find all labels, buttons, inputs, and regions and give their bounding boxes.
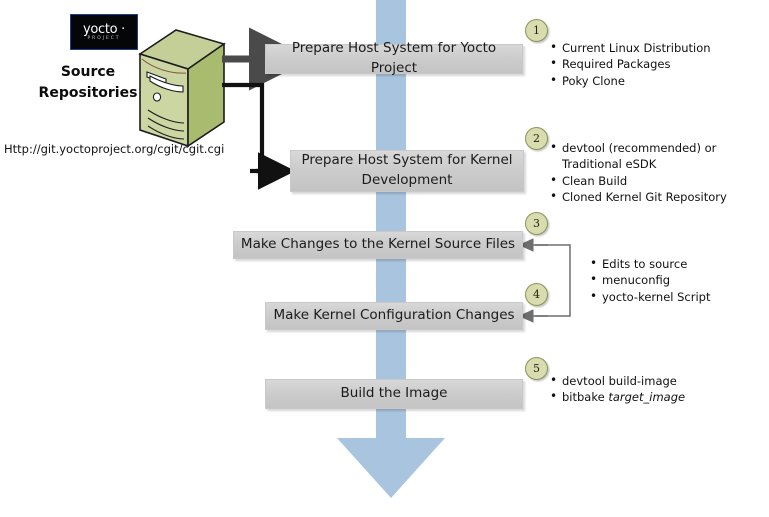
note-item: Current Linux Distribution — [560, 40, 763, 56]
source-repositories-label: Source Repositories — [26, 62, 150, 104]
step-notes-2: devtool (recommended) or Traditional eSD… — [548, 140, 768, 205]
shared-notes-steps-3-4: Edits to source menuconfig yocto-kernel … — [588, 256, 763, 305]
server-tower-icon — [136, 26, 228, 150]
note-item: Cloned Kernel Git Repository — [560, 189, 768, 205]
note-item: devtool (recommended) or Traditional eSD… — [560, 140, 768, 173]
note-command-prefix: bitbake — [562, 390, 608, 404]
step-box-3[interactable]: Make Changes to the Kernel Source Files — [233, 231, 523, 259]
note-item: Edits to source — [600, 256, 763, 272]
step-box-2[interactable]: Prepare Host System for Kernel Developme… — [290, 150, 524, 192]
note-item: bitbake target_image — [560, 389, 763, 405]
step-notes-5: devtool build-image bitbake target_image — [548, 373, 763, 406]
step-number-2: 2 — [525, 127, 548, 150]
yocto-project-logo: yocto · PROJECT — [70, 14, 138, 50]
note-item: menuconfig — [600, 272, 763, 288]
yocto-logo-wordmark: yocto · — [83, 23, 125, 36]
flow-arrow-head — [337, 438, 445, 498]
step-number-1: 1 — [525, 19, 548, 42]
step-box-4[interactable]: Make Kernel Configuration Changes — [265, 302, 523, 330]
note-item: yocto-kernel Script — [600, 289, 763, 305]
step-box-5[interactable]: Build the Image — [265, 379, 523, 409]
step-number-3: 3 — [525, 212, 548, 235]
step-notes-1: Current Linux Distribution Required Pack… — [548, 40, 763, 89]
step-number-5: 5 — [525, 357, 548, 380]
note-item: Required Packages — [560, 56, 763, 72]
note-item: Poky Clone — [560, 73, 763, 89]
step-box-1[interactable]: Prepare Host System for Yocto Project — [265, 44, 523, 74]
yocto-logo-subtext: PROJECT — [88, 37, 121, 41]
kernel-dev-flow-diagram: yocto · PROJECT Source Repositories Http… — [0, 0, 769, 517]
connector-server-to-step2 — [222, 85, 262, 171]
note-item: Clean Build — [560, 173, 768, 189]
step-number-4: 4 — [525, 283, 548, 306]
note-item: devtool build-image — [560, 373, 763, 389]
note-command-argument: target_image — [608, 390, 685, 404]
